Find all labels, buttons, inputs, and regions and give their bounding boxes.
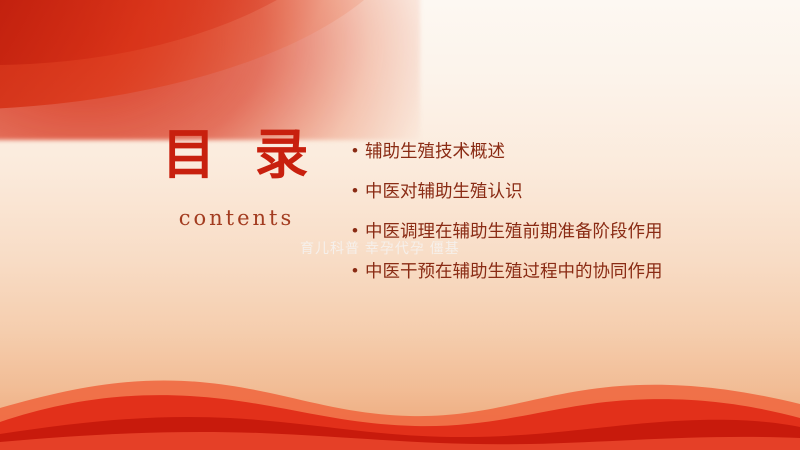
- list-item[interactable]: • 中医调理在辅助生殖前期准备阶段作用: [352, 218, 724, 245]
- bottom-wave-decoration: [0, 330, 800, 450]
- top-left-red-wash-decoration: [0, 0, 420, 140]
- page-title: 目 录: [120, 125, 350, 184]
- bullet-icon: •: [352, 138, 358, 164]
- table-of-contents-list: • 辅助生殖技术概述 • 中医对辅助生殖认识 • 中医调理在辅助生殖前期准备阶段…: [352, 138, 724, 299]
- list-item-label: 中医对辅助生殖认识: [365, 178, 724, 205]
- list-item[interactable]: • 辅助生殖技术概述: [352, 138, 724, 165]
- bullet-icon: •: [352, 258, 358, 284]
- list-item[interactable]: • 中医干预在辅助生殖过程中的协同作用: [352, 258, 724, 285]
- bullet-icon: •: [352, 218, 358, 244]
- list-item-label: 中医干预在辅助生殖过程中的协同作用: [365, 258, 724, 285]
- top-left-ribbon-decoration-inner: [0, 0, 390, 65]
- bullet-icon: •: [352, 178, 358, 204]
- presentation-slide: 目 录 contents • 辅助生殖技术概述 • 中医对辅助生殖认识 • 中医…: [0, 0, 800, 450]
- list-item-label: 中医调理在辅助生殖前期准备阶段作用: [365, 218, 724, 245]
- list-item[interactable]: • 中医对辅助生殖认识: [352, 178, 724, 205]
- top-left-ribbon-decoration: [0, 0, 420, 110]
- slide-title-block: 目 录 contents: [120, 125, 350, 230]
- page-subtitle: contents: [120, 206, 350, 230]
- list-item-label: 辅助生殖技术概述: [365, 138, 724, 165]
